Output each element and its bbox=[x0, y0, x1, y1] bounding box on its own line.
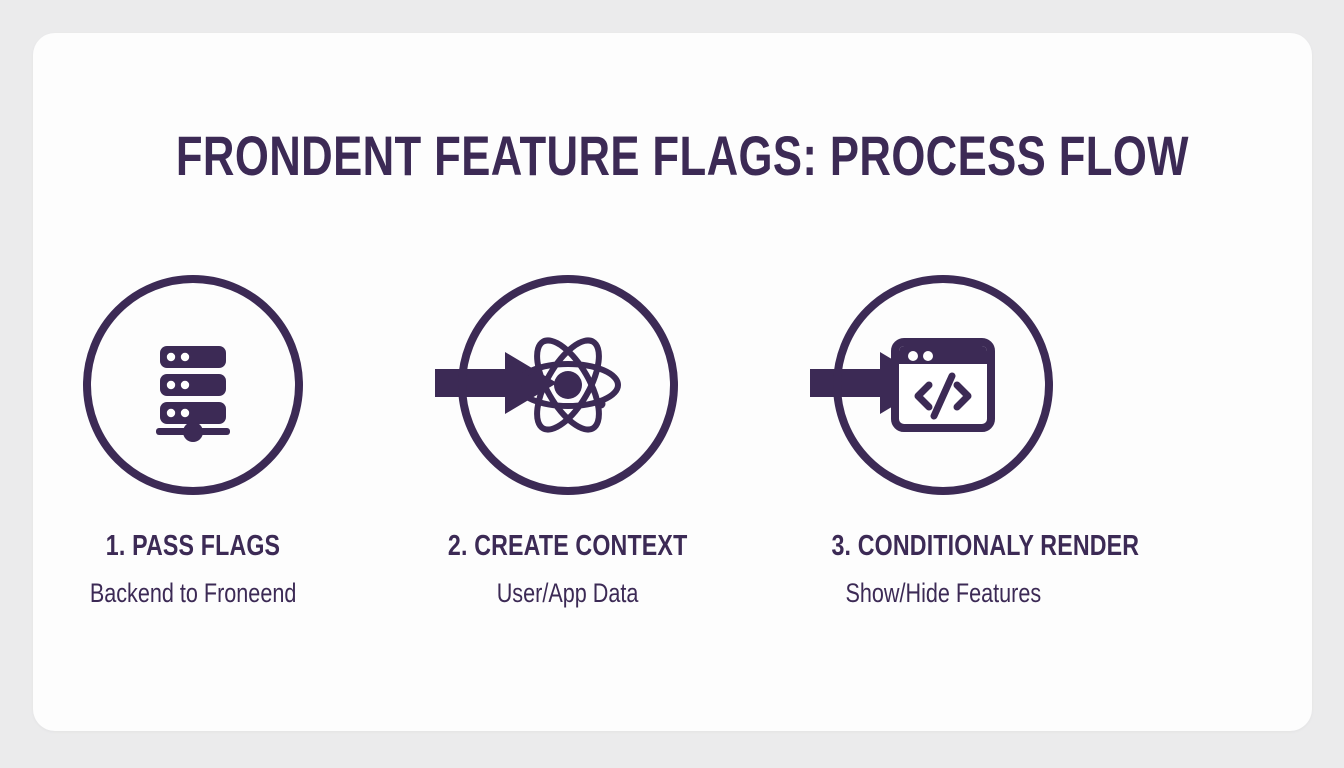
step-3-title: 3. CONDITIONALY RENDER bbox=[793, 531, 1093, 563]
step-1-subtitle: Backend to Froneend bbox=[43, 579, 343, 609]
server-network-connector-icon bbox=[133, 414, 253, 448]
atom-icon bbox=[508, 325, 628, 445]
content-card: FRONDENT FEATURE FLAGS: PROCESS FLOW bbox=[33, 33, 1312, 731]
step-2-title: 2. CREATE CONTEXT bbox=[418, 531, 718, 563]
step-1-title-text: 1. PASS FLAGS bbox=[106, 531, 280, 563]
step-1-circle bbox=[83, 275, 303, 495]
slide-canvas: FRONDENT FEATURE FLAGS: PROCESS FLOW bbox=[0, 0, 1344, 768]
step-1-labels: 1. PASS FLAGS Backend to Froneend bbox=[43, 531, 343, 609]
step-3-labels: 3. CONDITIONALY RENDER Show/Hide Feature… bbox=[793, 531, 1093, 609]
step-1-subtitle-text: Backend to Froneend bbox=[90, 579, 297, 609]
step-3-circle bbox=[833, 275, 1053, 495]
step-2-subtitle: User/App Data bbox=[418, 579, 718, 609]
step-3-title-text: 3. CONDITIONALY RENDER bbox=[831, 531, 1139, 563]
step-1-title: 1. PASS FLAGS bbox=[43, 531, 343, 563]
step-3-subtitle-text: Show/Hide Features bbox=[845, 579, 1041, 609]
flow-step-2[interactable]: 2. CREATE CONTEXT User/App Data bbox=[418, 275, 718, 609]
step-2-circle bbox=[458, 275, 678, 495]
step-3-subtitle: Show/Hide Features bbox=[793, 579, 1093, 609]
process-flow-diagram: 1. PASS FLAGS Backend to Froneend bbox=[33, 33, 1312, 731]
step-2-labels: 2. CREATE CONTEXT User/App Data bbox=[418, 531, 718, 609]
code-window-icon bbox=[883, 325, 1003, 445]
flow-step-3[interactable]: 3. CONDITIONALY RENDER Show/Hide Feature… bbox=[793, 275, 1093, 609]
flow-step-1[interactable]: 1. PASS FLAGS Backend to Froneend bbox=[43, 275, 343, 609]
step-2-subtitle-text: User/App Data bbox=[497, 579, 639, 609]
step-2-title-text: 2. CREATE CONTEXT bbox=[448, 531, 687, 563]
